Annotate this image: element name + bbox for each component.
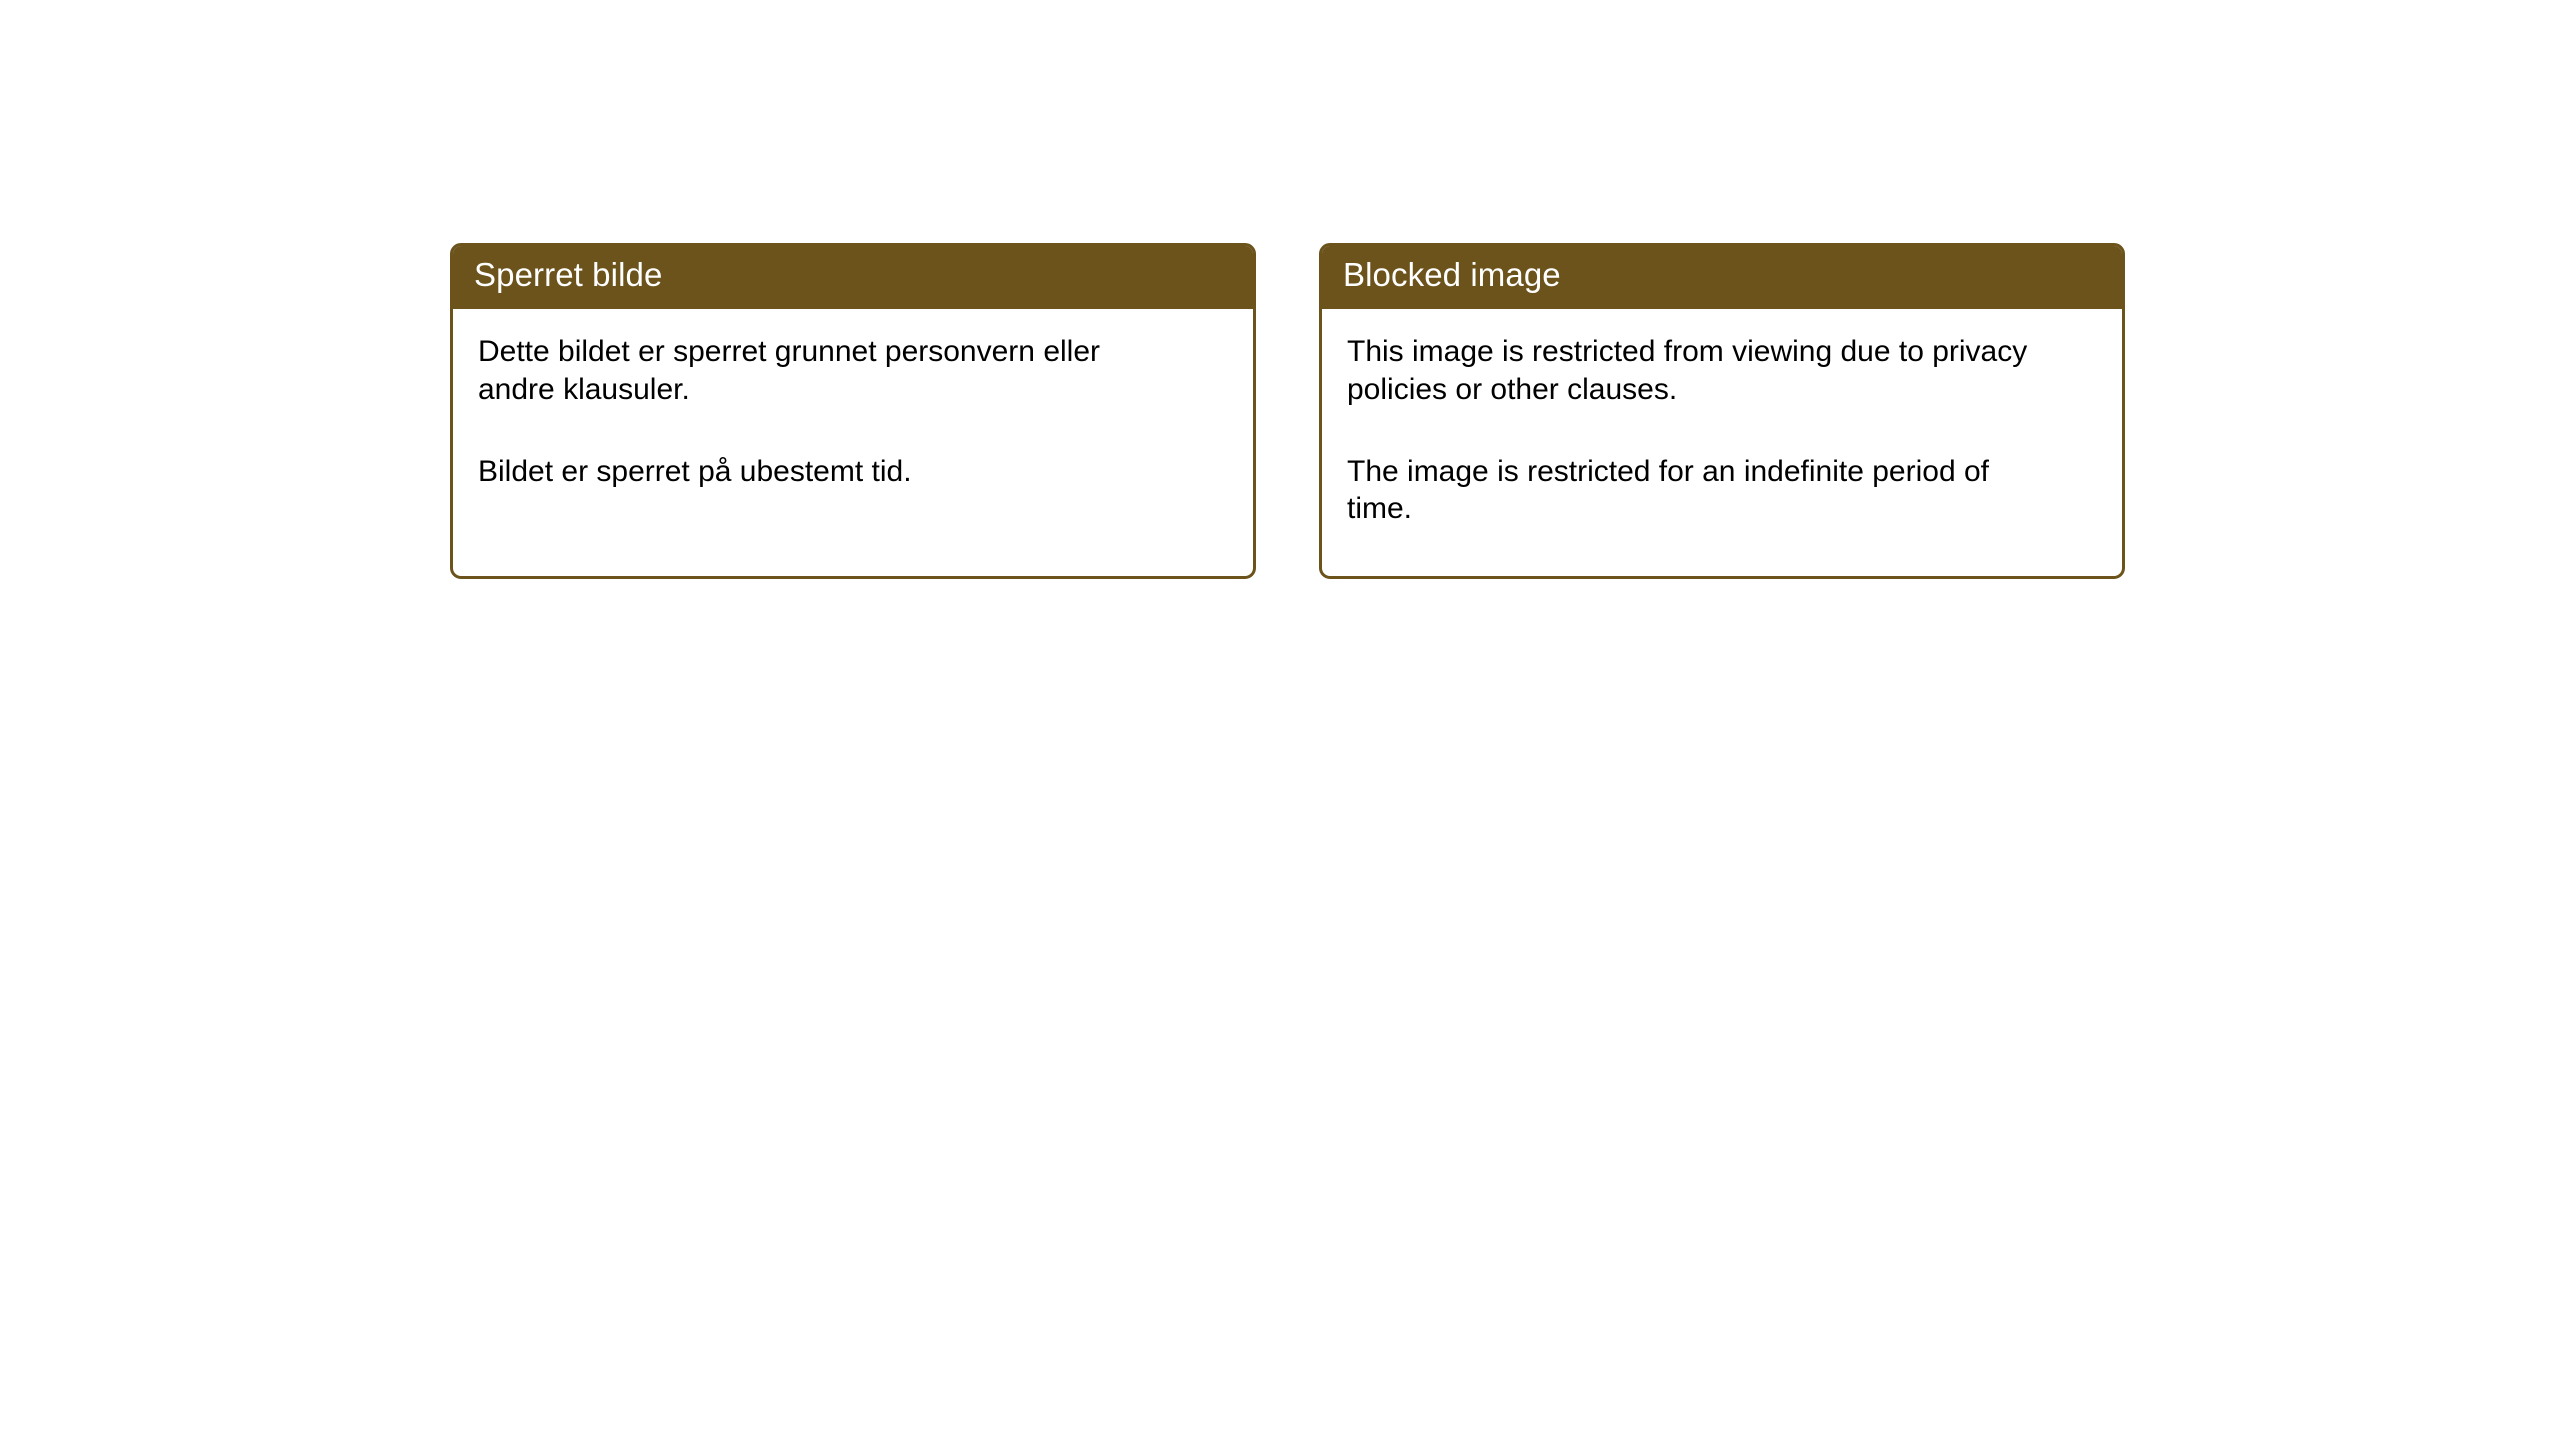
card-title-norwegian: Sperret bilde xyxy=(474,257,662,293)
blocked-image-card-english: Blocked image This image is restricted f… xyxy=(1319,243,2125,579)
card-paragraph-primary-norwegian: Dette bildet er sperret grunnet personve… xyxy=(478,333,1168,409)
blocked-image-card-deck: Sperret bilde Dette bildet er sperret gr… xyxy=(450,243,2125,579)
card-body-norwegian: Dette bildet er sperret grunnet personve… xyxy=(453,309,1253,576)
card-header-english: Blocked image xyxy=(1319,243,2125,309)
card-paragraph-secondary-norwegian: Bildet er sperret på ubestemt tid. xyxy=(478,453,1168,491)
card-paragraph-secondary-english: The image is restricted for an indefinit… xyxy=(1347,453,2037,529)
blocked-image-card-norwegian: Sperret bilde Dette bildet er sperret gr… xyxy=(450,243,1256,579)
card-paragraph-primary-english: This image is restricted from viewing du… xyxy=(1347,333,2037,409)
card-body-english: This image is restricted from viewing du… xyxy=(1322,309,2122,576)
card-header-norwegian: Sperret bilde xyxy=(450,243,1256,309)
card-title-english: Blocked image xyxy=(1343,257,1561,293)
